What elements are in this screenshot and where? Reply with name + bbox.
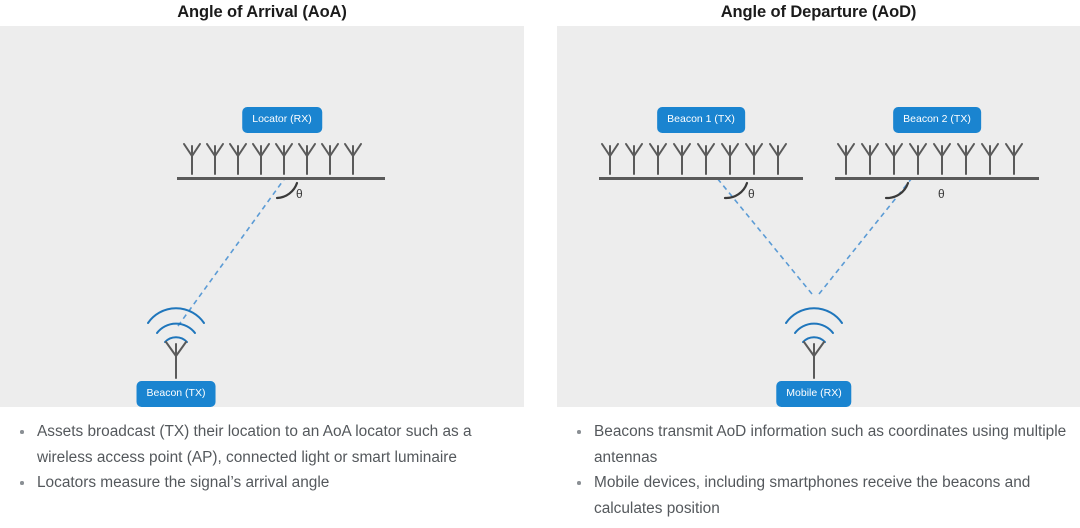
- aoa-beacon-waves: [148, 308, 204, 342]
- aod-antenna-array-left: [602, 144, 786, 174]
- aoa-antenna-array: [184, 144, 361, 174]
- aoa-theta-label: θ: [296, 187, 303, 201]
- wave-arc-inner: [803, 337, 825, 342]
- list-item: Assets broadcast (TX) their location to …: [14, 419, 516, 470]
- antenna-element: [838, 144, 854, 174]
- beacon-tx-badge[interactable]: Beacon (TX): [137, 381, 216, 407]
- antenna-element: [746, 144, 762, 174]
- aoa-column: Angle of Arrival (AoA): [0, 0, 524, 528]
- antenna-element: [698, 144, 714, 174]
- antenna-element: [322, 144, 338, 174]
- antenna-element: [958, 144, 974, 174]
- antenna-element: [770, 144, 786, 174]
- antenna-element: [276, 144, 292, 174]
- aoa-diagram-svg: [0, 26, 524, 407]
- antenna-element: [674, 144, 690, 174]
- aod-mobile-waves: [786, 308, 842, 342]
- list-item: Beacons transmit AoD information such as…: [571, 419, 1072, 470]
- wave-arc-middle: [157, 324, 195, 333]
- antenna-element: [299, 144, 315, 174]
- antenna-element: [207, 144, 223, 174]
- list-item: Mobile devices, including smartphones re…: [571, 470, 1072, 521]
- aod-angle-arc-right: [886, 183, 908, 198]
- antenna-element: [230, 144, 246, 174]
- antenna-element: [184, 144, 200, 174]
- mobile-rx-badge[interactable]: Mobile (RX): [776, 381, 851, 407]
- aod-theta-label-right: θ: [938, 187, 945, 201]
- aod-angle-arc-left: [725, 183, 747, 198]
- aod-panel-title: Angle of Departure (AoD): [557, 0, 1080, 26]
- locator-rx-badge[interactable]: Locator (RX): [242, 107, 322, 133]
- aod-mobile-antenna: [804, 342, 824, 378]
- beacon-1-tx-badge[interactable]: Beacon 1 (TX): [657, 107, 745, 133]
- aod-antenna-array-right: [838, 144, 1022, 174]
- aod-theta-label-left: θ: [748, 187, 755, 201]
- antenna-element: [934, 144, 950, 174]
- beacon-2-tx-badge[interactable]: Beacon 2 (TX): [893, 107, 981, 133]
- antenna-element: [345, 144, 361, 174]
- aod-column: Angle of Departure (AoD): [557, 0, 1080, 528]
- antenna-element: [886, 144, 902, 174]
- wave-arc-middle: [795, 324, 833, 333]
- list-item: Locators measure the signal’s arrival an…: [14, 470, 516, 496]
- aoa-beacon-antenna: [166, 342, 186, 378]
- aod-bullet-list: Beacons transmit AoD information such as…: [557, 407, 1080, 521]
- antenna-element: [862, 144, 878, 174]
- antenna-element: [982, 144, 998, 174]
- wave-arc-inner: [165, 337, 187, 342]
- aoa-diagram-panel: θ Locator (RX) Beacon (TX): [0, 26, 524, 407]
- antenna-element: [626, 144, 642, 174]
- aoa-aod-comparison-board: Angle of Arrival (AoA): [0, 0, 1080, 528]
- aoa-signal-path-dashed: [178, 178, 285, 326]
- aod-diagram-svg: [557, 26, 1080, 407]
- antenna-element: [253, 144, 269, 174]
- antenna-element: [722, 144, 738, 174]
- wave-arc-outer: [148, 308, 204, 323]
- aod-signal-path-dashed-left: [717, 178, 812, 294]
- antenna-element: [602, 144, 618, 174]
- aoa-bullet-list: Assets broadcast (TX) their location to …: [0, 407, 524, 496]
- aod-diagram-panel: θ θ Beacon 1 (TX) Beacon 2 (TX) Mobile (…: [557, 26, 1080, 407]
- antenna-element: [650, 144, 666, 174]
- antenna-element: [1006, 144, 1022, 174]
- antenna-element: [910, 144, 926, 174]
- wave-arc-outer: [786, 308, 842, 323]
- aoa-panel-title: Angle of Arrival (AoA): [0, 0, 524, 26]
